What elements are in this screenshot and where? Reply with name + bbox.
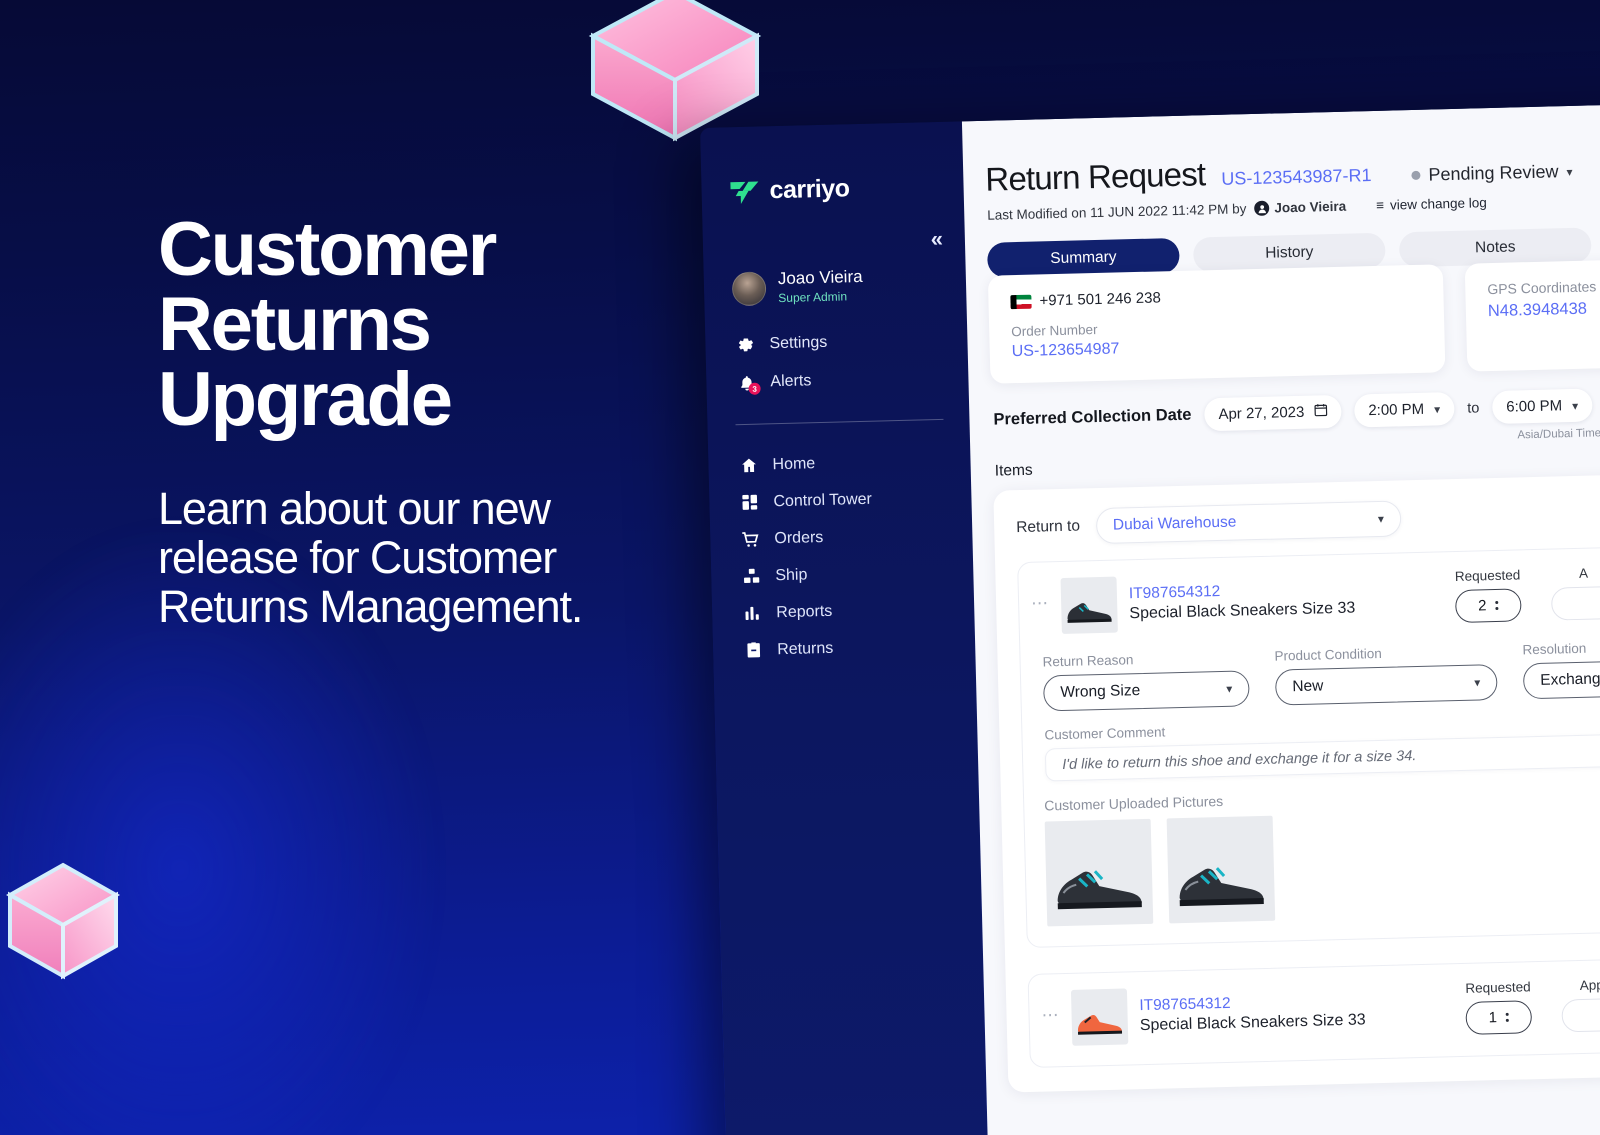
modified-by-name: Joao Vieira <box>1274 199 1346 216</box>
boxes-icon <box>741 566 761 586</box>
requested-label: Requested <box>1465 979 1531 996</box>
items-panel: Return to Dubai Warehouse ▾ ⋯ <box>993 474 1600 1093</box>
item-card: ⋯ IT987654312 Special Black Sneakers Siz… <box>1028 958 1600 1068</box>
collection-date-value: Apr 27, 2023 <box>1218 404 1304 423</box>
time-from-value: 2:00 PM <box>1368 401 1424 419</box>
chevron-down-icon: ▾ <box>1572 398 1578 412</box>
view-change-log-label: view change log <box>1390 195 1487 212</box>
header-title-row: Return Request US-123543987-R1 Pending R… <box>981 141 1600 199</box>
item-header: ⋯ IT987654312 Special Black Sneakers Siz… <box>1041 976 1600 1047</box>
home-icon <box>738 456 758 476</box>
contact-card: +971 501 246 238 Order Number US-1236549… <box>988 264 1446 383</box>
hero-subheadline: Learn about our new release for Customer… <box>158 484 678 631</box>
uploaded-pictures-list <box>1037 807 1600 927</box>
sidebar-item-label: Settings <box>769 334 827 353</box>
item-form-row: Return Reason Wrong Size ▾ Product Condi… <box>1032 640 1600 712</box>
return-to-label: Return to <box>1016 518 1080 538</box>
avatar <box>732 272 767 307</box>
carriyo-logo-icon <box>729 178 760 205</box>
status-dot-icon <box>1411 171 1420 180</box>
collection-date-picker[interactable]: Apr 27, 2023 <box>1204 395 1342 431</box>
resolution-field: Resolution Exchange <box>1522 639 1600 700</box>
return-reason-select[interactable]: Wrong Size ▾ <box>1043 670 1250 711</box>
item-thumbnail <box>1071 988 1128 1045</box>
chevron-down-icon: ▾ <box>1378 512 1384 526</box>
return-to-value: Dubai Warehouse <box>1113 514 1237 535</box>
sidebar-item-returns[interactable]: Returns <box>713 627 976 671</box>
dashboard-mockup: carriyo « Joao Vieira Super Admin Settin… <box>700 101 1600 1135</box>
gps-label: GPS Coordinates <box>1487 275 1600 298</box>
main-content: Return Request US-123543987-R1 Pending R… <box>962 101 1600 1135</box>
sneaker-icon <box>1075 1010 1124 1037</box>
resolution-value: Exchange <box>1540 670 1600 690</box>
view-change-log-link[interactable]: ≡ view change log <box>1376 195 1487 213</box>
sidebar-collapse-icon[interactable]: « <box>930 228 943 250</box>
summary-cards-row: +971 501 246 238 Order Number US-1236549… <box>984 256 1600 384</box>
grid-icon <box>739 493 759 513</box>
return-reason-label: Return Reason <box>1042 649 1248 669</box>
phone-number: +971 501 246 238 <box>1039 289 1161 309</box>
brand-logo[interactable]: carriyo <box>701 157 964 207</box>
requested-qty-block: Requested 2 <box>1454 567 1521 623</box>
bar-chart-icon <box>742 603 762 623</box>
sidebar-item-label: Ship <box>775 566 807 585</box>
sidebar-top-group: Settings 3 Alerts <box>705 321 969 404</box>
sidebar-main-nav: Home Control Tower <box>708 442 976 671</box>
sidebar-item-alerts[interactable]: 3 Alerts <box>706 359 969 404</box>
return-to-select[interactable]: Dubai Warehouse ▾ <box>1096 500 1402 544</box>
brand-name: carriyo <box>769 174 850 205</box>
return-request-title: Return Request <box>985 155 1206 199</box>
alerts-badge: 3 <box>748 383 760 395</box>
status-badge[interactable]: Pending Review ▾ <box>1411 161 1573 186</box>
time-range-separator: to <box>1467 400 1479 416</box>
product-condition-field: Product Condition New ▾ <box>1274 643 1497 706</box>
sidebar-divider <box>736 419 944 425</box>
user-role: Super Admin <box>778 287 863 307</box>
approved-qty-block: Appr <box>1561 977 1600 1033</box>
time-to-value: 6:00 PM <box>1506 397 1562 415</box>
product-condition-select[interactable]: New ▾ <box>1275 664 1498 706</box>
pink-cube-top-icon <box>585 0 765 143</box>
sidebar-item-label: Home <box>772 455 815 474</box>
user-name: Joao Vieira <box>778 267 863 290</box>
chevron-down-icon: ▾ <box>1474 675 1480 689</box>
bell-icon: 3 <box>736 373 756 393</box>
return-to-row: Return to Dubai Warehouse ▾ <box>1016 495 1600 547</box>
approved-qty-block: A <box>1550 565 1600 621</box>
app-sidebar: carriyo « Joao Vieira Super Admin Settin… <box>700 121 989 1135</box>
requested-qty-block: Requested 1 <box>1465 979 1532 1035</box>
sidebar-item-settings[interactable]: Settings <box>705 321 968 366</box>
status-label: Pending Review <box>1428 161 1559 185</box>
chevron-down-icon: ▾ <box>1566 164 1572 178</box>
sneaker-photo-icon <box>1175 858 1268 908</box>
user-avatar-icon <box>1254 201 1269 216</box>
page-title: Customer Returns Upgrade <box>158 212 678 438</box>
requested-label: Requested <box>1454 567 1520 584</box>
requested-qty-value: 2 <box>1478 597 1487 614</box>
approved-qty-stepper[interactable] <box>1551 586 1600 621</box>
sidebar-item-label: Control Tower <box>773 491 872 511</box>
hero-copy: Customer Returns Upgrade Learn about our… <box>158 212 678 631</box>
menu-lines-icon: ≡ <box>1376 198 1384 213</box>
sneaker-icon <box>1065 598 1114 625</box>
modified-by-user: Joao Vieira <box>1254 199 1346 216</box>
collection-time-from[interactable]: 2:00 PM ▾ <box>1354 392 1455 428</box>
cart-icon <box>740 529 760 549</box>
resolution-select[interactable]: Exchange <box>1523 660 1600 700</box>
resolution-label: Resolution <box>1522 639 1600 658</box>
item-header: ⋯ IT987654312 Special Black Sneakers Siz… <box>1031 564 1600 635</box>
chevron-down-icon: ▾ <box>1226 682 1232 696</box>
sneaker-photo-icon <box>1053 861 1146 911</box>
requested-qty-stepper[interactable]: 1 <box>1465 1000 1532 1035</box>
request-id[interactable]: US-123543987-R1 <box>1221 165 1372 190</box>
gps-value[interactable]: N48.3948438 <box>1488 296 1600 322</box>
uploaded-picture[interactable] <box>1167 816 1276 924</box>
item-texts: IT987654312 Special Black Sneakers Size … <box>1129 577 1444 623</box>
ae-flag-icon <box>1010 294 1031 309</box>
requested-qty-stepper[interactable]: 2 <box>1455 588 1522 623</box>
product-condition-label: Product Condition <box>1274 643 1496 664</box>
item-drag-handle-icon[interactable]: ⋯ <box>1031 593 1050 619</box>
return-reason-field: Return Reason Wrong Size ▾ <box>1042 649 1249 711</box>
item-thumbnail <box>1061 577 1118 634</box>
sidebar-item-label: Alerts <box>770 373 811 392</box>
uploaded-picture[interactable] <box>1045 819 1154 927</box>
collection-date-label: Preferred Collection Date <box>993 406 1191 430</box>
item-texts: IT987654312 Special Black Sneakers Size … <box>1139 989 1454 1035</box>
product-condition-value: New <box>1292 677 1323 696</box>
return-reason-value: Wrong Size <box>1060 682 1140 702</box>
sidebar-item-label: Orders <box>774 529 823 548</box>
return-box-icon <box>743 640 763 660</box>
chevron-down-icon: ▾ <box>1434 402 1440 416</box>
gear-icon <box>735 335 755 355</box>
approved-label: A <box>1550 565 1600 582</box>
stepper-arrows-icon[interactable] <box>1495 601 1498 610</box>
user-profile[interactable]: Joao Vieira Super Admin <box>704 264 967 309</box>
last-modified-text: Last Modified on 11 JUN 2022 11:42 PM by <box>987 201 1246 223</box>
sidebar-item-label: Reports <box>776 603 832 622</box>
pink-cube-bottom-icon <box>6 862 121 980</box>
phone-row: +971 501 246 238 <box>1010 283 1423 310</box>
collection-time-to[interactable]: 6:00 PM ▾ <box>1492 389 1593 425</box>
approved-label: Appr <box>1561 977 1600 994</box>
requested-qty-value: 1 <box>1488 1009 1497 1026</box>
approved-qty-stepper[interactable] <box>1561 998 1600 1033</box>
sidebar-item-label: Returns <box>777 640 833 659</box>
calendar-icon <box>1314 403 1327 420</box>
stepper-arrows-icon[interactable] <box>1506 1013 1509 1022</box>
gps-card: GPS Coordinates N48.3948438 <box>1465 256 1600 372</box>
item-card: ⋯ IT987654312 Special Black Sneakers Siz… <box>1017 547 1600 948</box>
item-drag-handle-icon[interactable]: ⋯ <box>1041 1005 1060 1031</box>
